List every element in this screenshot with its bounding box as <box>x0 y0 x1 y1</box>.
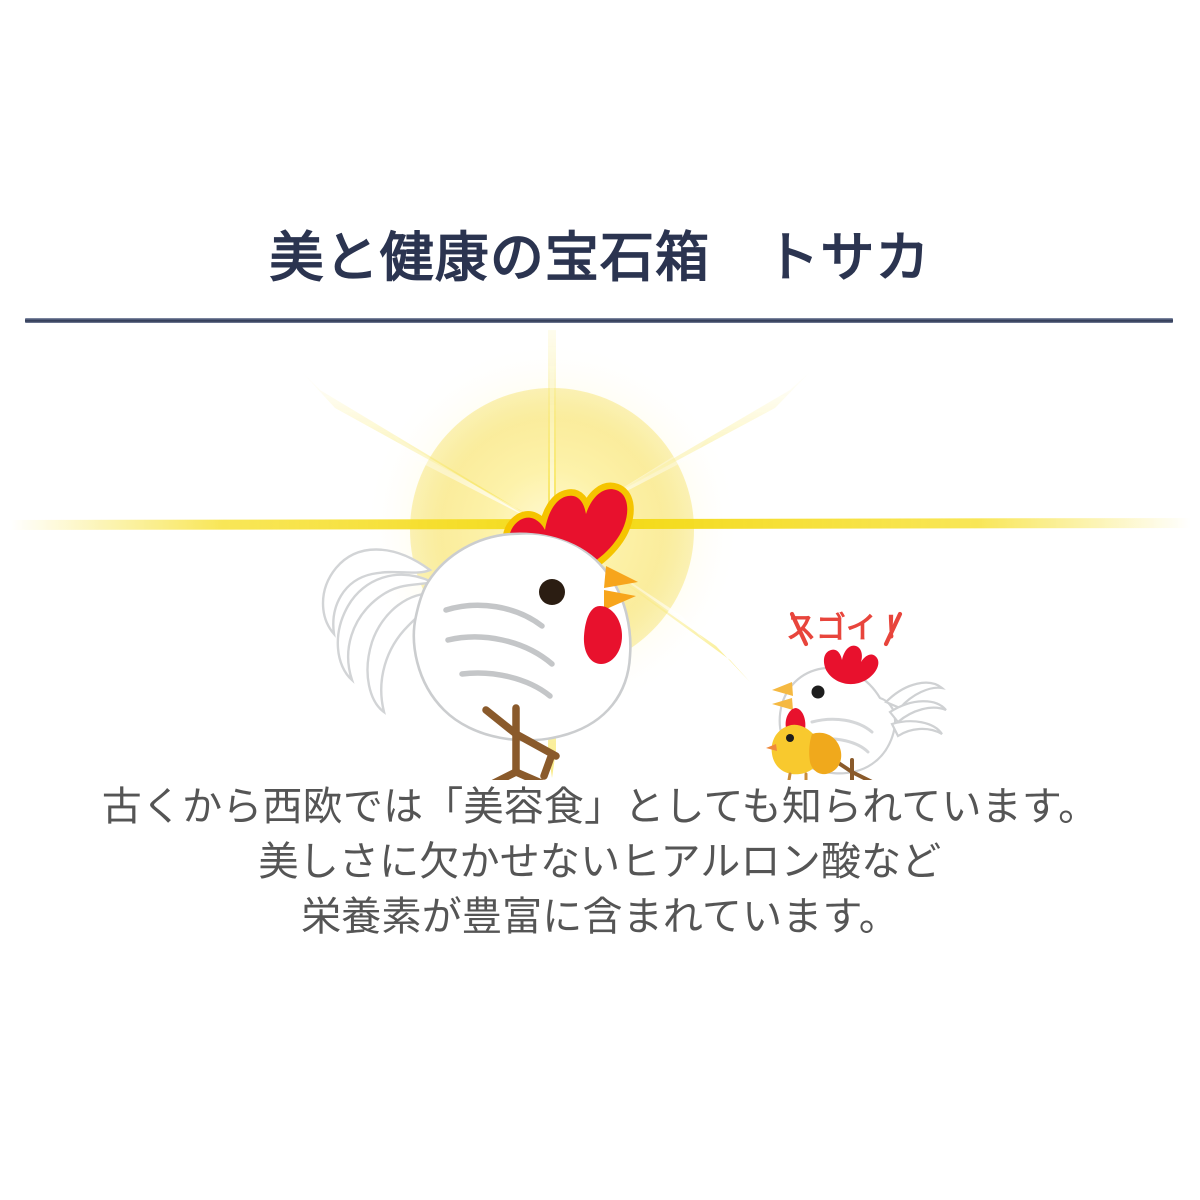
small-hen-eye <box>812 686 825 699</box>
description-text: 古くから西欧では「美容食」としても知られています。 美しさに欠かせないヒアルロン… <box>0 780 1200 946</box>
header: 美と健康の宝石箱 トサカ <box>0 228 1200 288</box>
product-info-panel: 美と健康の宝石箱 トサカ <box>0 0 1200 1200</box>
emphasis-text: スゴイ！ <box>786 611 906 645</box>
rooster-eye <box>539 579 565 605</box>
description-line-2: 美しさに欠かせないヒアルロン酸など <box>0 835 1200 890</box>
description-line-1: 古くから西欧では「美容食」としても知られています。 <box>0 780 1200 835</box>
small-hen-scene: スゴイ！ <box>766 611 946 780</box>
description-line-3: 栄養素が豊富に含まれています。 <box>0 890 1200 945</box>
title-divider <box>25 318 1173 323</box>
page-title: 美と健康の宝石箱 トサカ <box>0 228 1200 288</box>
illustration-canvas: スゴイ！ <box>0 330 1200 780</box>
rooster-sun-illustration: スゴイ！ <box>0 330 1200 780</box>
small-hen-tail <box>886 683 946 736</box>
